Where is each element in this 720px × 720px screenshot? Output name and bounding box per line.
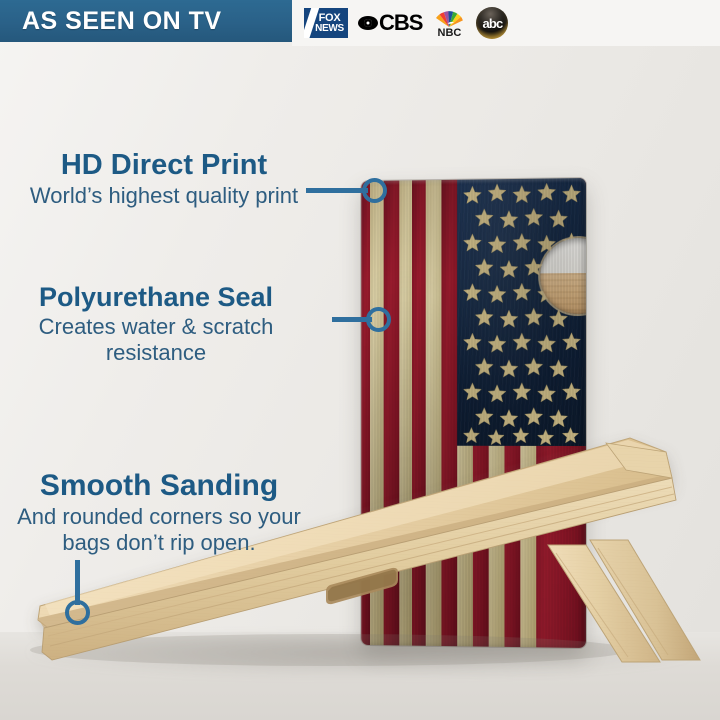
fox-logo-line2: NEWS — [315, 24, 344, 34]
nbc-logo-label: NBC — [438, 28, 462, 39]
american-flag-cornhole-board[interactable] — [361, 178, 586, 648]
abc-logo-icon: abc — [476, 7, 508, 39]
flag-stripe — [412, 180, 425, 646]
floor-shadow — [30, 636, 690, 676]
fox-logo-line1: FOX — [319, 13, 341, 24]
callout-title: Smooth Sanding — [4, 470, 314, 502]
callout-hd-direct-print: HD Direct Print World’s highest quality … — [14, 150, 314, 209]
flag-stripe — [426, 180, 442, 646]
callout-connector-line — [306, 188, 368, 193]
cbs-logo-label: CBS — [379, 12, 422, 34]
callout-title: HD Direct Print — [14, 150, 314, 181]
product-infographic: AS SEEN ON TV FOX NEWS CBS — [0, 0, 720, 720]
as-seen-on-tv-label: AS SEEN ON TV — [22, 7, 222, 36]
abc-logo-label: abc — [482, 17, 502, 30]
fox-news-logo-icon: FOX NEWS — [304, 8, 348, 38]
flag-stripe — [441, 180, 457, 646]
as-seen-on-tv-badge: AS SEEN ON TV — [0, 0, 292, 42]
callout-smooth-sanding: Smooth Sanding And rounded corners so yo… — [4, 470, 314, 555]
callout-connector-line — [75, 560, 80, 605]
callout-marker-ring — [366, 307, 391, 332]
flag-stripe — [361, 181, 370, 645]
network-logo-row: FOX NEWS CBS NBC — [304, 5, 508, 41]
flag-star-field — [457, 178, 586, 446]
callout-subtitle: And rounded corners so your bags don’t r… — [4, 504, 314, 555]
callout-title: Polyurethane Seal — [6, 283, 306, 312]
cbs-logo-icon: CBS — [358, 12, 422, 34]
callout-marker-ring — [362, 178, 387, 203]
callout-subtitle: World’s highest quality print — [14, 183, 314, 209]
nbc-logo-icon: NBC — [432, 7, 466, 39]
flag-stripe — [383, 181, 399, 646]
cornhole-hole[interactable] — [540, 238, 586, 315]
callout-subtitle: Creates water & scratch resistance — [6, 314, 306, 365]
flag-stripe — [399, 180, 412, 645]
flag-stripe — [370, 181, 383, 645]
callout-polyurethane-seal: Polyurethane Seal Creates water & scratc… — [6, 283, 306, 365]
nbc-peacock-icon — [432, 7, 466, 27]
cbs-eye-icon — [358, 16, 378, 30]
callout-marker-ring — [65, 600, 90, 625]
